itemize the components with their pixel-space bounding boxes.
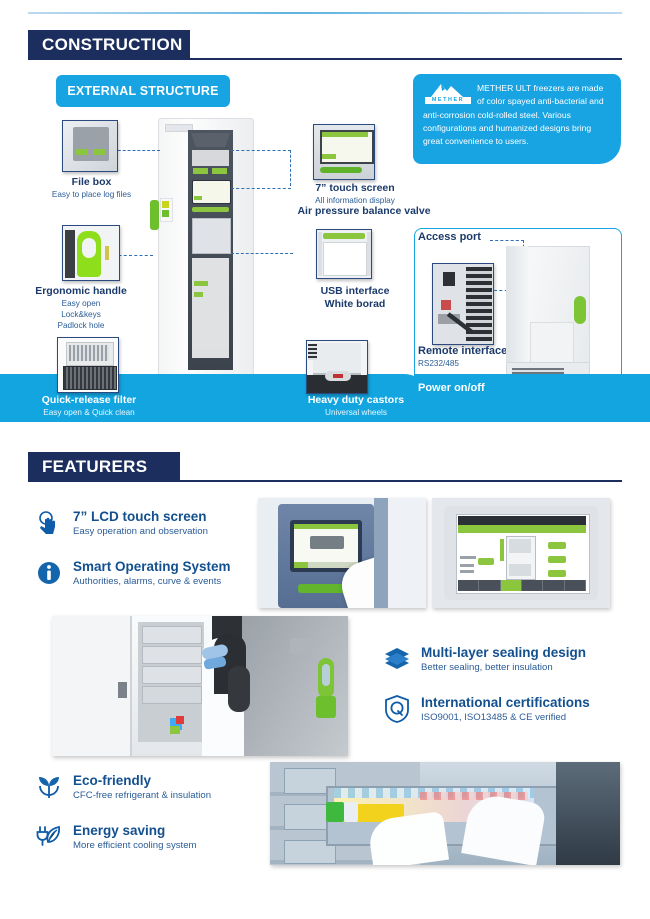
- feature-smart-os: Smart Operating System Authorities, alar…: [34, 558, 279, 588]
- caption-air-valve: Air pressure balance valve: [296, 205, 432, 218]
- section-rule-featurers: [180, 480, 622, 482]
- section-header-featurers: FEATURERS: [28, 452, 180, 482]
- photo-quick-release-filter: [57, 337, 119, 393]
- feature-eco-friendly: Eco-friendly CFC-free refrigerant & insu…: [34, 772, 284, 802]
- caption-castors: Heavy duty castors Universal wheels: [292, 394, 420, 418]
- feature-sub: Authorities, alarms, curve & events: [73, 575, 231, 588]
- caption-usb-interface: USB interface White borad: [303, 285, 407, 311]
- feature-title: Multi-layer sealing design: [421, 644, 586, 661]
- photo-remote-interface: [432, 263, 494, 345]
- connector-screen-c: [231, 188, 291, 189]
- top-divider-rule: [28, 12, 622, 14]
- photo-lab-scene: [52, 616, 348, 756]
- connector-screen-b: [290, 150, 291, 186]
- photo-hand-touch-panel: [258, 498, 426, 608]
- feature-sub: ISO9001, ISO13485 & CE verified: [421, 711, 590, 724]
- feature-title: Eco-friendly: [73, 772, 211, 789]
- photo-usb-interface: [316, 229, 372, 279]
- connector-screen-a: [231, 150, 291, 151]
- feature-title: 7” LCD touch screen: [73, 508, 208, 525]
- caption-ergonomic-handle: Ergonomic handle Easy open Lock&keys Pad…: [20, 285, 142, 331]
- connector-access-port-a: [490, 240, 524, 241]
- feature-certifications: International certifications ISO9001, IS…: [382, 694, 622, 724]
- label-power-on-off: Power on/off: [418, 382, 528, 395]
- label-access-port: Access port: [418, 231, 504, 244]
- photo-file-box: [62, 120, 118, 172]
- caption-touch-screen: 7” touch screen All information display: [300, 182, 410, 206]
- feature-sub: CFC-free refrigerant & insulation: [73, 789, 211, 802]
- feature-touch-screen: 7” LCD touch screen Easy operation and o…: [34, 508, 264, 538]
- connector-usb: [231, 253, 293, 254]
- caption-quick-release-filter: Quick-release filter Easy open & Quick c…: [14, 394, 164, 418]
- sprout-icon: [34, 772, 64, 802]
- section-rule-construction: [190, 58, 622, 60]
- quality-shield-icon: [382, 694, 412, 724]
- caption-file-box: File box Easy to place log files: [44, 176, 139, 200]
- plug-leaf-icon: [34, 822, 64, 852]
- feature-title: Energy saving: [73, 822, 197, 839]
- photo-cryo-rack: [270, 762, 620, 865]
- feature-sub: Better sealing, better insulation: [421, 661, 586, 674]
- feature-sub: More efficient cooling system: [73, 839, 197, 852]
- photo-touch-screen: [313, 124, 375, 180]
- feature-title: Smart Operating System: [73, 558, 231, 575]
- feature-title: International certifications: [421, 694, 590, 711]
- info-circle-icon: [34, 558, 64, 588]
- photo-ergonomic-handle: [62, 225, 120, 281]
- badge-external-structure: EXTERNAL STRUCTURE: [56, 75, 230, 107]
- section-header-construction: CONSTRUCTION: [28, 30, 190, 60]
- photo-hmi-screen: [432, 498, 610, 608]
- feature-sub: Easy operation and observation: [73, 525, 208, 538]
- touch-gesture-icon: [34, 508, 64, 538]
- brochure-page: CONSTRUCTION EXTERNAL STRUCTURE METHER M…: [0, 0, 650, 919]
- feature-energy-saving: Energy saving More efficient cooling sys…: [34, 822, 284, 852]
- mether-wordmark: METHER: [425, 97, 471, 104]
- mether-logo: METHER: [425, 82, 471, 104]
- info-callout: METHER METHER ULT freezers are made of c…: [413, 74, 621, 164]
- caption-remote-interface: Remote interface RS232/485: [418, 345, 518, 369]
- feature-multi-layer-sealing: Multi-layer sealing design Better sealin…: [382, 644, 622, 674]
- photo-castors: [306, 340, 368, 394]
- layers-icon: [382, 644, 412, 674]
